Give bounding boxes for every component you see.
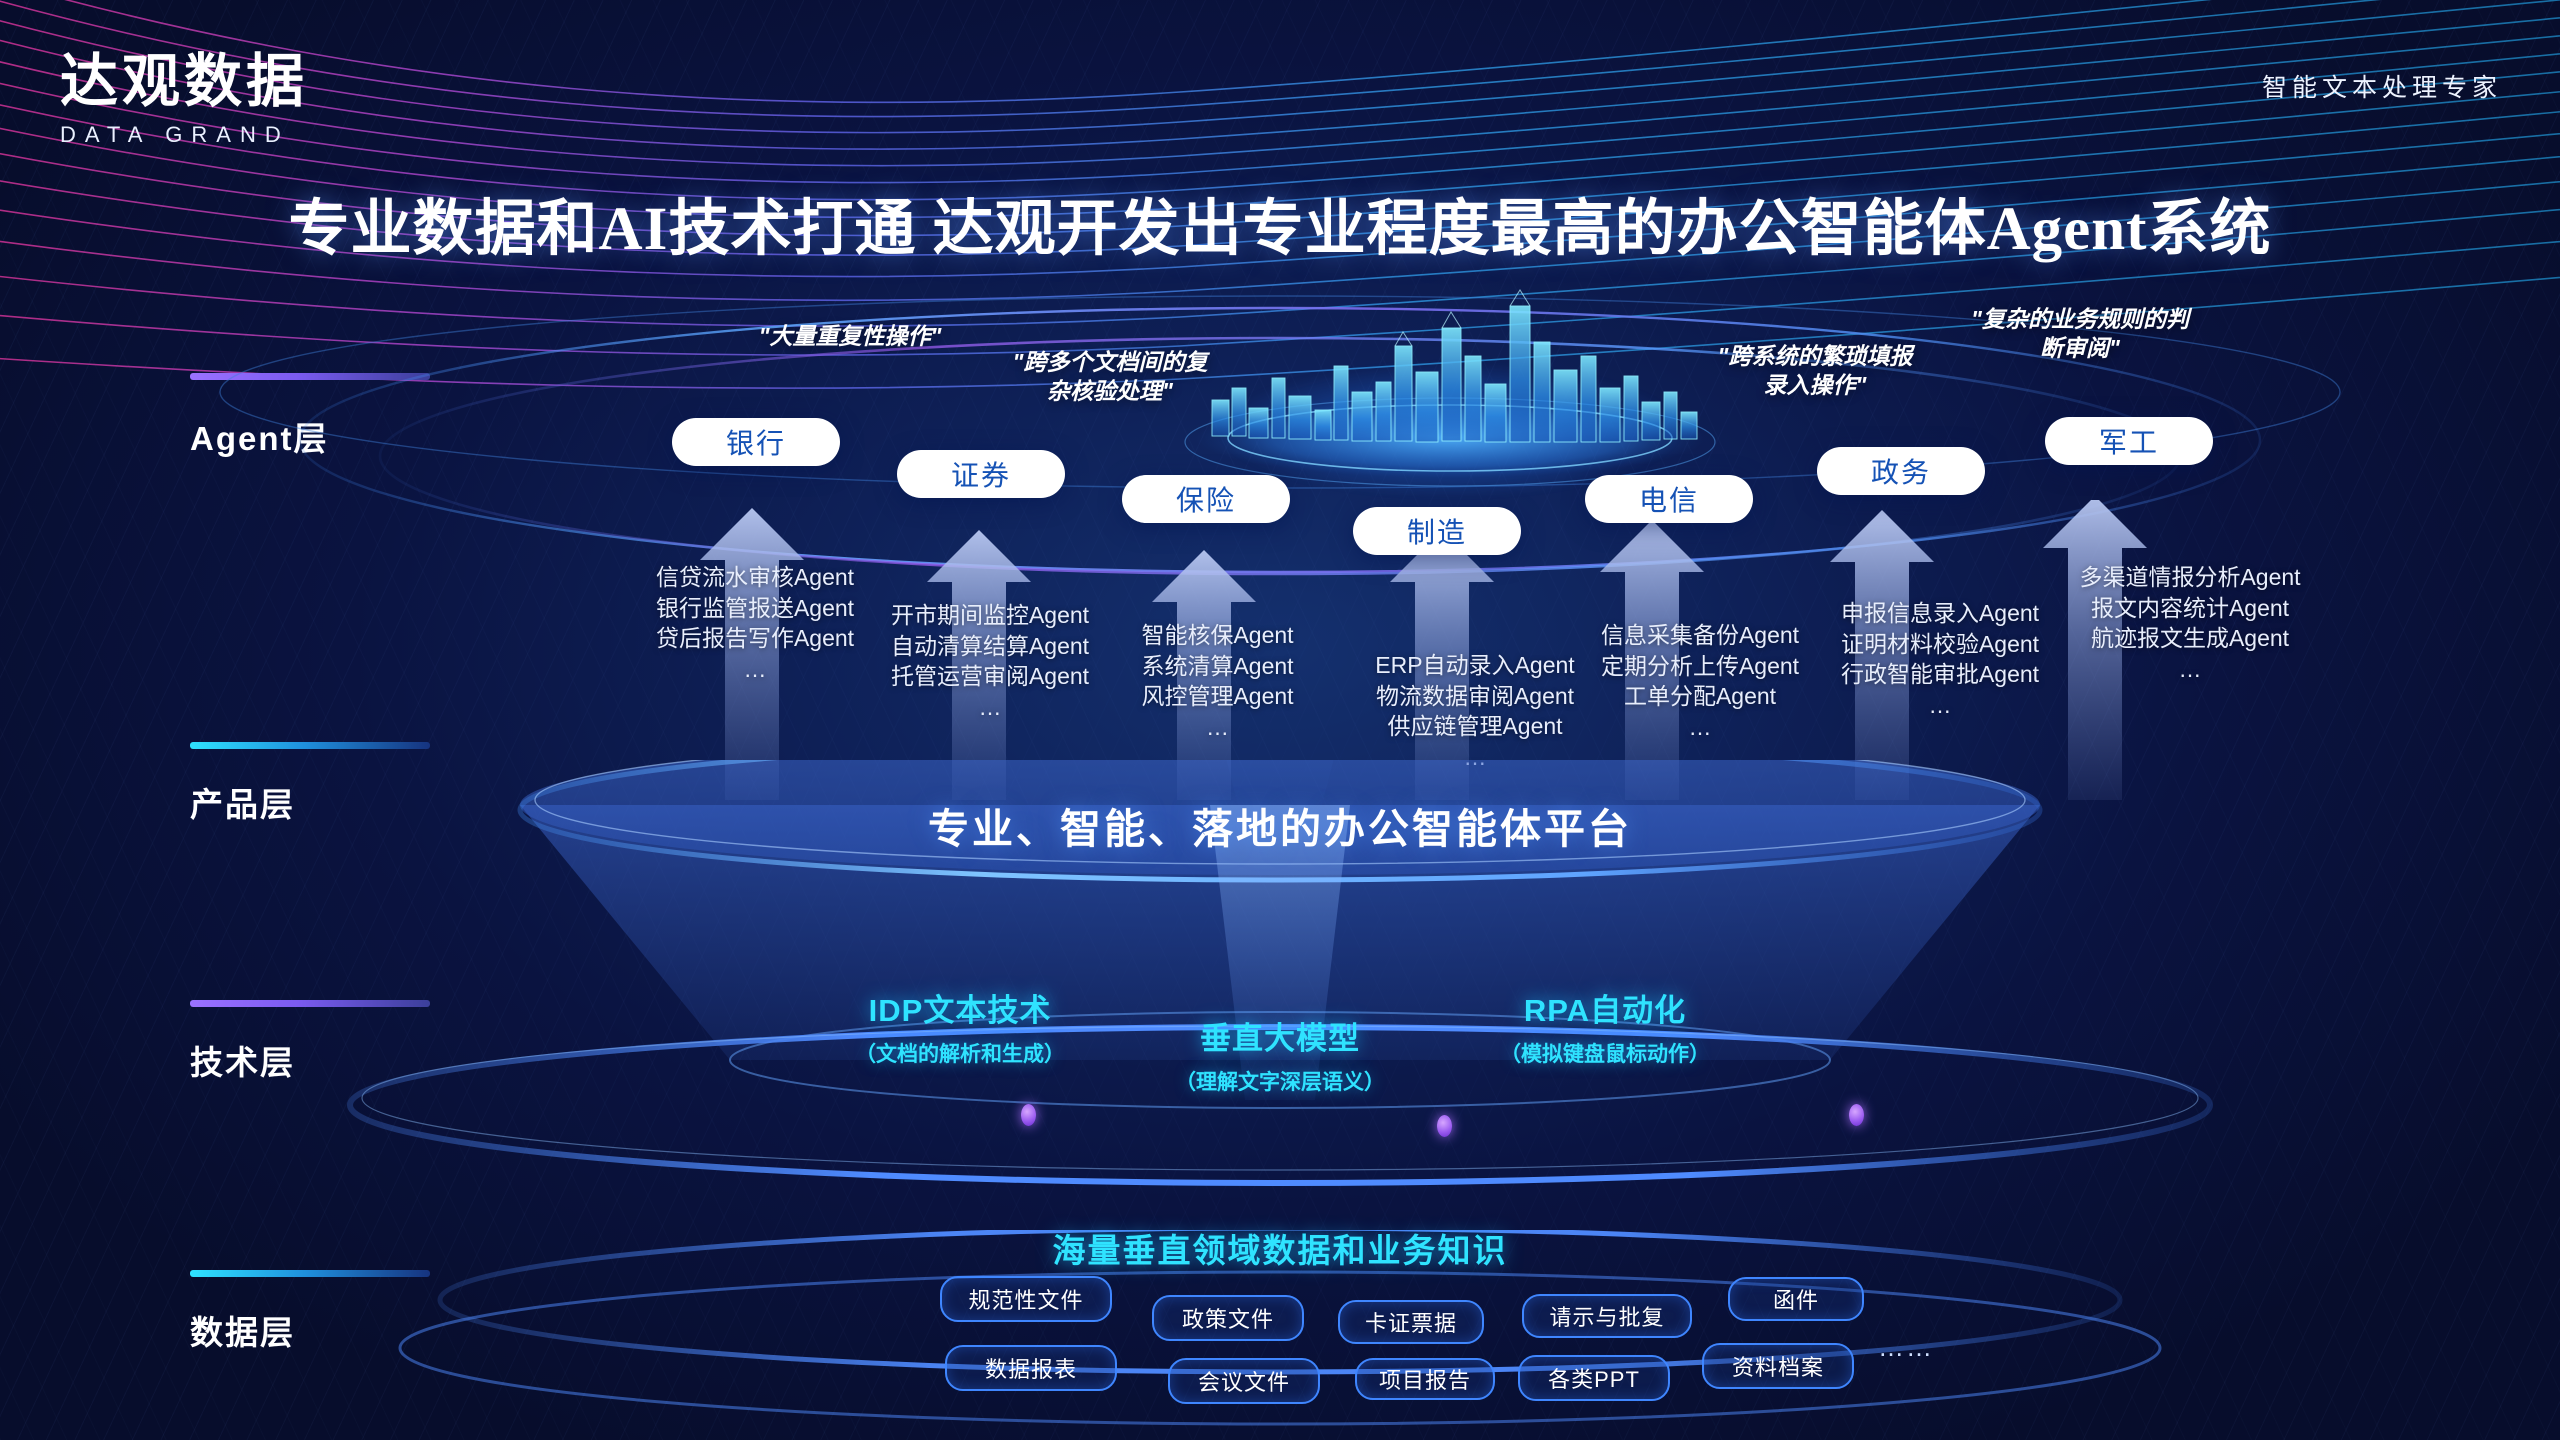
data-tag-r1-2[interactable]: 卡证票据 [1338,1300,1484,1344]
product-platform-title: 专业、智能、落地的办公智能体平台 [0,795,2560,855]
agent-list-2: 智能核保Agent 系统清算Agent 风控管理Agent … [1095,620,1340,742]
industry-pill-1[interactable]: 证券 [897,450,1065,498]
data-tags-more-ellipsis: …… [1878,1332,1934,1363]
industry-pill-4[interactable]: 电信 [1585,475,1753,523]
quote-3: "复杂的业务规则的判 断审阅" [1930,305,2230,363]
brand-tagline: 智能文本处理专家 [2262,68,2502,104]
tech-item-1-sub: （理解文字深层语义） [1115,1066,1445,1096]
quote-0: "大量重复性操作" [700,322,1000,351]
tech-item-2-name: RPA自动化 [1440,985,1770,1030]
data-tag-r2-1[interactable]: 会议文件 [1168,1358,1320,1404]
data-tag-r1-1[interactable]: 政策文件 [1152,1295,1304,1341]
agent-list-1: 开市期间监控Agent 自动清算结算Agent 托管运营审阅Agent … [845,600,1135,722]
industry-pill-0[interactable]: 银行 [672,418,840,466]
tech-item-0: IDP文本技术 （文档的解析和生成） [795,985,1125,1068]
data-tag-r2-3[interactable]: 各类PPT [1518,1355,1670,1401]
tech-item-2-sub: （模拟键盘鼠标动作） [1440,1038,1770,1068]
data-tag-r2-0[interactable]: 数据报表 [945,1345,1117,1391]
brand-logo-cn: 达观数据 [60,52,308,110]
tech-node-dot-1 [1437,1115,1452,1137]
data-tag-r2-4[interactable]: 资料档案 [1702,1343,1854,1389]
data-tag-r1-3[interactable]: 请示与批复 [1522,1294,1692,1338]
data-tag-r1-4[interactable]: 函件 [1728,1277,1864,1321]
industry-pill-5[interactable]: 政务 [1817,447,1985,495]
tech-item-1-name: 垂直大模型 [1115,1013,1445,1058]
tech-item-2: RPA自动化 （模拟键盘鼠标动作） [1440,985,1770,1068]
quote-2: "跨系统的繁琐填报 录入操作" [1665,342,1965,400]
tech-item-0-name: IDP文本技术 [795,985,1125,1030]
agent-list-6: 多渠道情报分析Agent 报文内容统计Agent 航迹报文生成Agent … [2040,562,2340,684]
data-layer-title: 海量垂直领域数据和业务知识 [0,1224,2560,1272]
tech-node-dot-2 [1849,1104,1864,1126]
brand-logo-en: DATA GRAND [60,122,308,148]
data-tag-r1-0[interactable]: 规范性文件 [940,1276,1112,1322]
tech-node-dot-0 [1021,1104,1036,1126]
tech-item-1: 垂直大模型 （理解文字深层语义） [1115,1013,1445,1096]
industry-pill-2[interactable]: 保险 [1122,475,1290,523]
slide-canvas: 达观数据 DATA GRAND 智能文本处理专家 专业数据和AI技术打通 达观开… [0,0,2560,1440]
brand-logo: 达观数据 DATA GRAND [60,52,308,148]
tech-item-0-sub: （文档的解析和生成） [795,1038,1125,1068]
industry-pill-6[interactable]: 军工 [2045,417,2213,465]
quote-1: "跨多个文档间的复 杂核验处理" [965,348,1255,406]
industry-pill-3[interactable]: 制造 [1353,507,1521,555]
data-tag-r2-2[interactable]: 项目报告 [1355,1358,1495,1400]
